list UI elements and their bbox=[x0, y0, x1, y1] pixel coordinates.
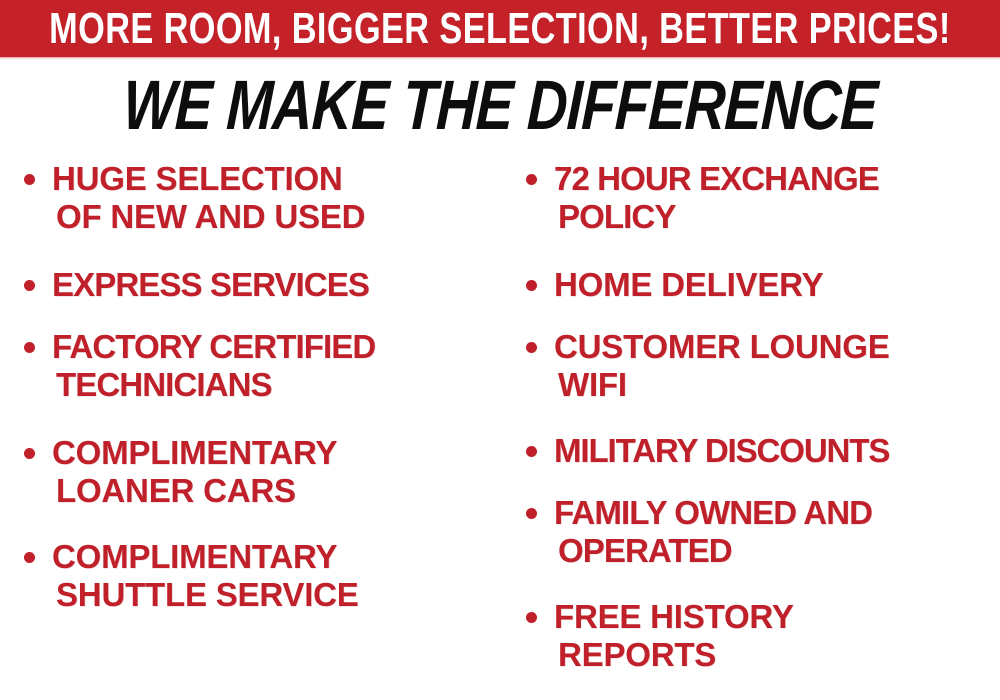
benefit-item-line: MILITARY DISCOUNTS bbox=[554, 432, 1000, 470]
benefit-item: COMPLIMENTARYSHUTTLE SERVICE bbox=[16, 538, 504, 614]
benefit-item-line: HOME DELIVERY bbox=[554, 266, 1000, 304]
banner-underline-divider bbox=[0, 57, 1000, 60]
benefit-item-line: FREE HISTORY bbox=[554, 598, 1000, 636]
benefit-item: MILITARY DISCOUNTS bbox=[518, 432, 1000, 470]
benefit-item: EXPRESS SERVICES bbox=[16, 266, 504, 304]
benefit-item: FAMILY OWNED ANDOPERATED bbox=[518, 494, 1000, 570]
benefit-item-line: OPERATED bbox=[558, 532, 1000, 570]
page-title: WE MAKE THE DIFFERENCE bbox=[122, 70, 879, 140]
benefit-item: CUSTOMER LOUNGEWIFI bbox=[518, 328, 1000, 404]
benefits-column-left: HUGE SELECTIONOF NEW AND USEDEXPRESS SER… bbox=[16, 160, 504, 640]
benefits-columns: HUGE SELECTIONOF NEW AND USEDEXPRESS SER… bbox=[0, 160, 1000, 694]
benefit-item-line: EXPRESS SERVICES bbox=[52, 266, 504, 304]
benefit-item-line: OF NEW AND USED bbox=[56, 198, 504, 236]
benefit-item: FACTORY CERTIFIEDTECHNICIANS bbox=[16, 328, 504, 404]
benefit-item-line: WIFI bbox=[558, 366, 1000, 404]
benefit-item: HOME DELIVERY bbox=[518, 266, 1000, 304]
benefit-item-line: FACTORY CERTIFIED bbox=[52, 328, 504, 366]
promo-banner-text: MORE ROOM, BIGGER SELECTION, BETTER PRIC… bbox=[49, 7, 951, 51]
benefit-item-line: REPORTS bbox=[558, 636, 1000, 674]
benefit-item-line: CUSTOMER LOUNGE bbox=[554, 328, 1000, 366]
benefit-item: 72 HOUR EXCHANGEPOLICY bbox=[518, 160, 1000, 236]
benefit-item-line: POLICY bbox=[558, 198, 1000, 236]
benefit-item-line: COMPLIMENTARY bbox=[52, 434, 504, 472]
benefit-item: FREE HISTORYREPORTS bbox=[518, 598, 1000, 674]
benefit-item-line: TECHNICIANS bbox=[56, 366, 504, 404]
benefit-item-line: COMPLIMENTARY bbox=[52, 538, 504, 576]
benefits-column-right: 72 HOUR EXCHANGEPOLICYHOME DELIVERYCUSTO… bbox=[518, 160, 1000, 700]
headline-container: WE MAKE THE DIFFERENCE bbox=[0, 66, 1000, 144]
benefit-item-line: FAMILY OWNED AND bbox=[554, 494, 1000, 532]
benefit-item-line: SHUTTLE SERVICE bbox=[56, 576, 504, 614]
benefit-item-line: 72 HOUR EXCHANGE bbox=[554, 160, 1000, 198]
benefit-item: COMPLIMENTARYLOANER CARS bbox=[16, 434, 504, 510]
promo-banner: MORE ROOM, BIGGER SELECTION, BETTER PRIC… bbox=[0, 0, 1000, 57]
benefit-item: HUGE SELECTIONOF NEW AND USED bbox=[16, 160, 504, 236]
benefit-item-line: HUGE SELECTION bbox=[52, 160, 504, 198]
benefit-item-line: LOANER CARS bbox=[56, 472, 504, 510]
